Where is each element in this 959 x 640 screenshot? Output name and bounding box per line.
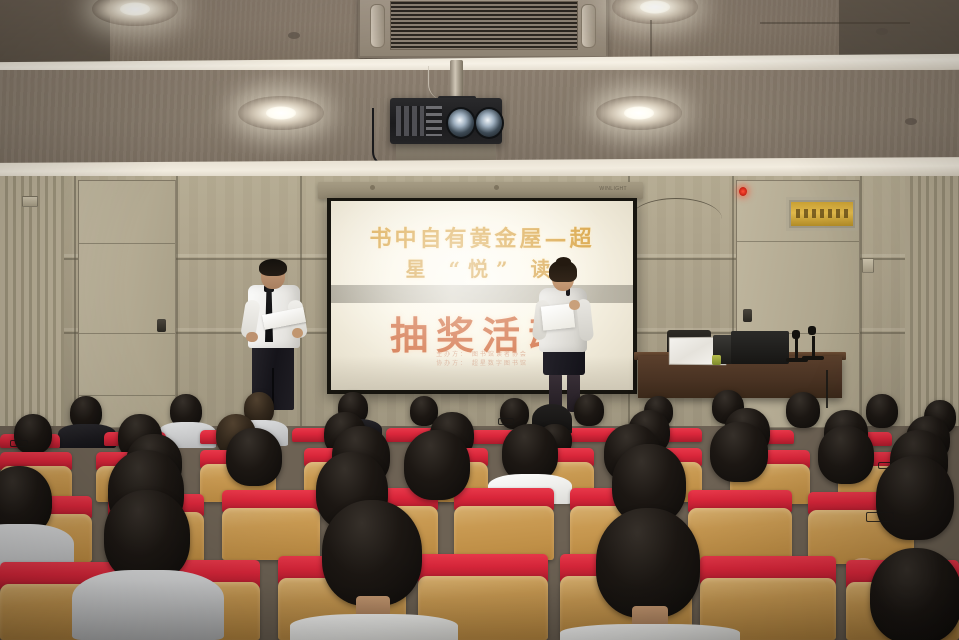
screen-brand-label: WINLIGHT	[599, 186, 627, 192]
microphone-head-2	[808, 326, 816, 335]
female-host-hand	[569, 300, 580, 310]
screen-roller-casing: WINLIGHT	[318, 182, 643, 199]
wall-seam-vertical-1	[74, 176, 76, 426]
ceiling-seam-3	[760, 22, 910, 24]
audience-head-foreground	[322, 500, 422, 606]
ceiling-right-edge	[839, 0, 959, 62]
audience-head-foreground	[870, 548, 959, 640]
male-host-hand-right	[292, 328, 303, 338]
projection-screen: 书中自有黄金屋—超 星 “悦” 读 抽奖活动 主办方： 图书馆读者协会 协办方：…	[331, 201, 633, 390]
audience-glasses-icon	[10, 440, 28, 447]
ceiling-downlight-4	[596, 96, 682, 130]
auditorium-photo: WINLIGHT 书中自有黄金屋—超 星 “悦” 读 抽奖活动 主办方： 图书馆…	[0, 0, 959, 640]
red-indicator-light-icon	[739, 187, 747, 196]
audience-head	[866, 394, 898, 428]
ac-vent-right	[581, 4, 596, 48]
slide-heading-line-2: 星 “悦” 读	[331, 253, 633, 282]
microphone-stem-1	[795, 338, 798, 360]
audience-head	[226, 428, 282, 486]
microphone-head-1	[792, 330, 800, 339]
ceiling-hole-1	[288, 32, 300, 39]
audience-head-foreground	[104, 490, 190, 582]
audience-head	[786, 392, 820, 428]
air-conditioner-cassette-icon	[358, 0, 608, 58]
table-cable	[826, 370, 828, 408]
wall-seam-vertical-6	[860, 176, 862, 426]
monitor-icon	[731, 331, 789, 364]
audience-head	[404, 430, 470, 500]
exit-sign	[789, 200, 855, 228]
male-host-hair	[259, 259, 287, 276]
projector-icon	[390, 98, 502, 144]
screen-lower-wash	[331, 356, 633, 390]
audience-torso-foreground	[72, 570, 224, 640]
projector-keypad	[396, 106, 424, 136]
seat-back[interactable]	[222, 508, 320, 560]
female-host-hair-bun	[556, 257, 571, 266]
door-left[interactable]	[78, 180, 176, 428]
ceiling-downlight-3	[238, 96, 324, 130]
ac-grille	[390, 1, 578, 50]
audience-head	[14, 414, 52, 454]
green-cup-icon	[712, 355, 721, 365]
wall-fluted-panel-right	[905, 176, 959, 426]
projector-mount-pole	[450, 60, 463, 100]
audience-torso-foreground	[560, 624, 740, 640]
male-host-hand-left	[246, 332, 258, 342]
wall-socket-2[interactable]	[22, 196, 38, 207]
microphone-stem-2	[812, 336, 815, 358]
seat-back[interactable]	[454, 506, 554, 560]
audience-glasses-icon	[498, 418, 514, 425]
projector-lens-left	[446, 107, 476, 139]
audience-torso-foreground	[290, 614, 458, 640]
ceiling-hole-3	[905, 118, 917, 125]
ceiling-hole-2	[876, 28, 888, 35]
audience-head	[876, 456, 954, 540]
seat-back[interactable]	[688, 508, 792, 562]
ac-vent-left	[370, 4, 385, 48]
slide-heading-line-1: 书中自有黄金屋—超	[331, 221, 633, 253]
door-handle-left[interactable]	[157, 319, 166, 332]
projector-power-cable	[372, 108, 396, 166]
exit-sign-text	[796, 209, 848, 218]
door-handle-right[interactable]	[743, 309, 752, 322]
wall-socket-1[interactable]	[862, 258, 874, 273]
audience-head	[818, 426, 874, 484]
wall-fluted-panel-left	[0, 176, 64, 426]
microphone-base-2	[802, 356, 824, 360]
audience-head	[574, 394, 604, 426]
audience-glasses-icon	[866, 512, 894, 522]
audience-head-foreground	[596, 508, 700, 618]
projector-lens-right	[474, 107, 504, 139]
audience-head	[710, 422, 768, 482]
projector-vent-slots	[426, 106, 442, 136]
wall-seam-vertical-2	[176, 176, 178, 426]
